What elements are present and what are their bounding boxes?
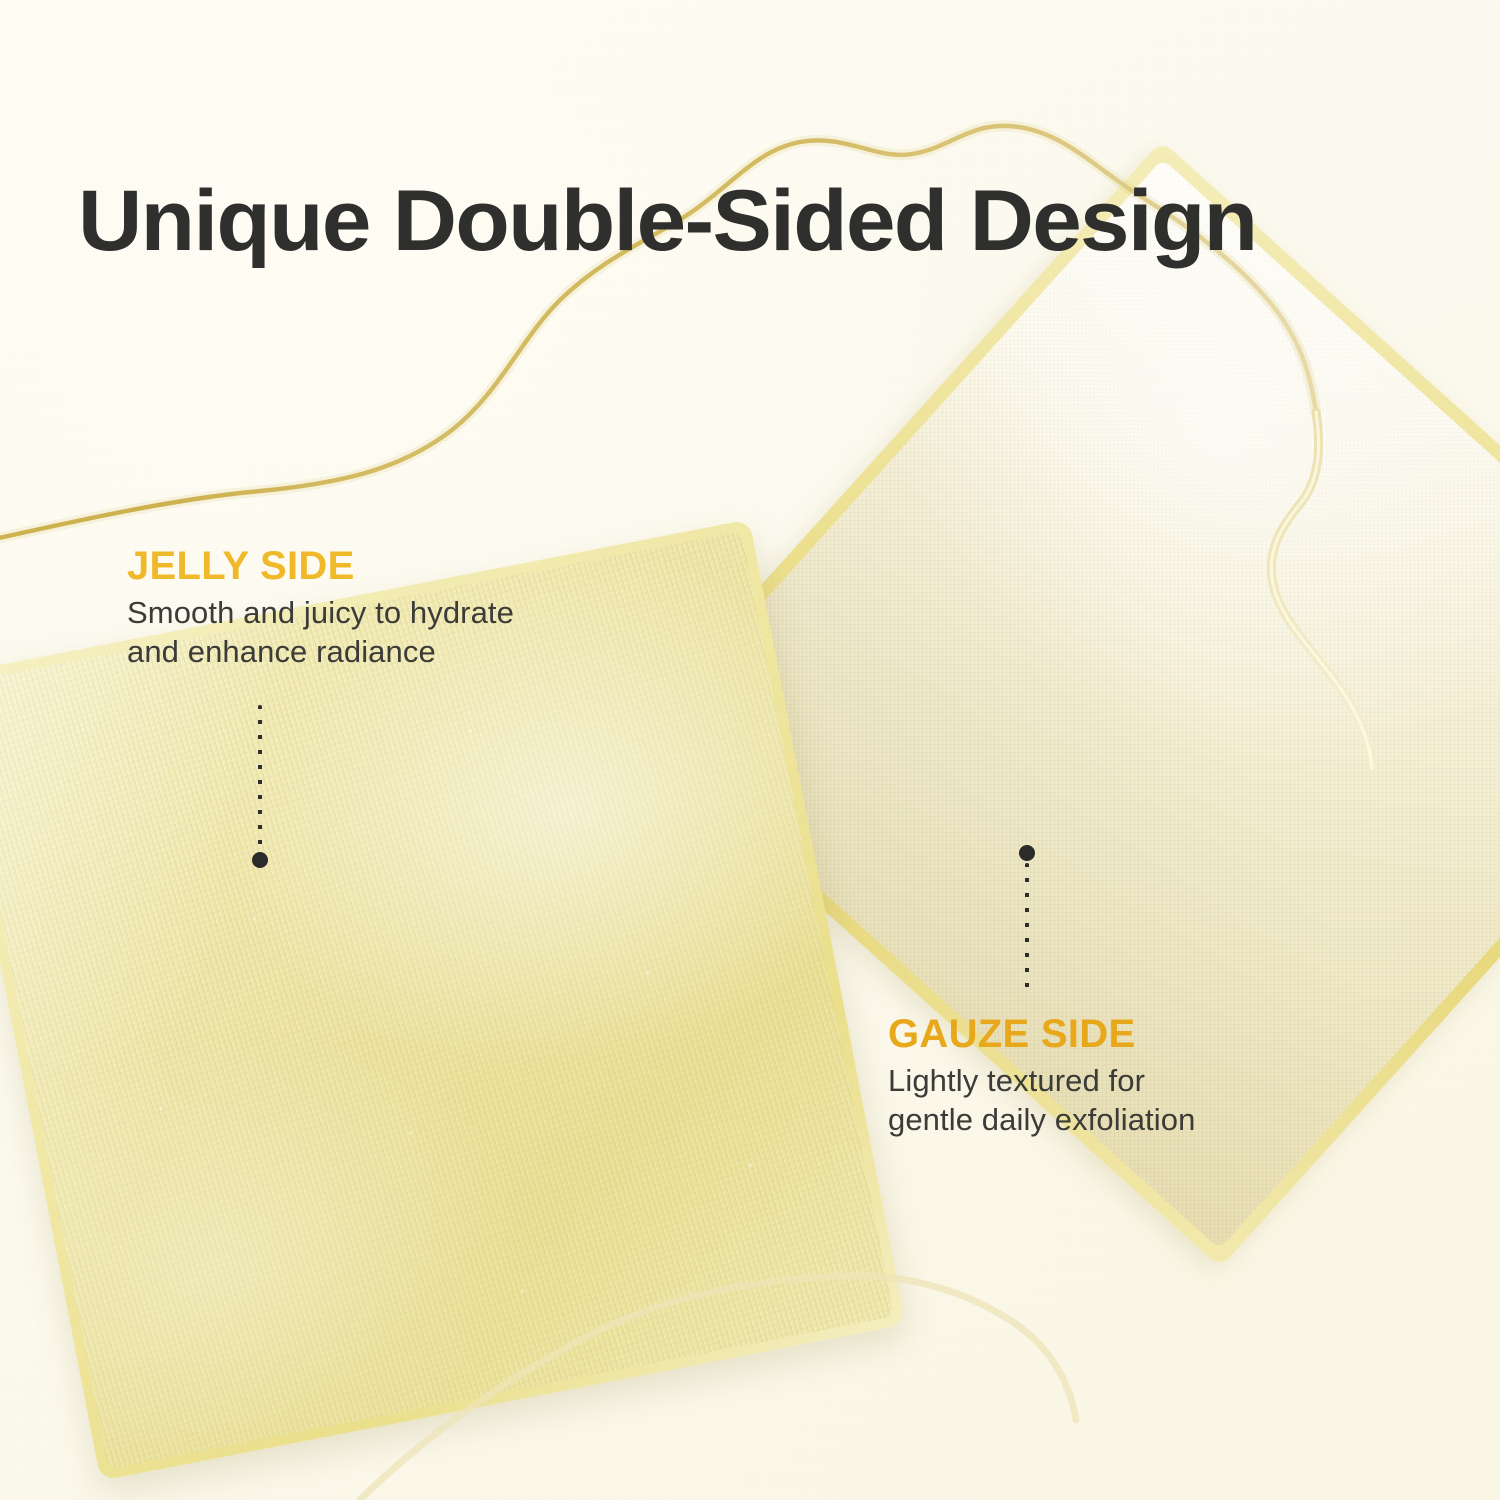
leader-endpoint-gauze <box>1019 845 1035 861</box>
leader-dots-gauze <box>1025 863 1029 995</box>
jelly-pad-face <box>0 531 894 1469</box>
jelly-pad <box>0 531 894 1469</box>
callout-gauze-body: Lightly textured for gentle daily exfoli… <box>888 1061 1348 1139</box>
callout-gauze-body-line-2: gentle daily exfoliation <box>888 1102 1195 1137</box>
callout-jelly-body: Smooth and juicy to hydrate and enhance … <box>127 593 647 671</box>
callout-jelly-title: JELLY SIDE <box>127 545 647 587</box>
leader-line-gauze <box>1019 845 1035 995</box>
callout-jelly-body-line-2: and enhance radiance <box>127 634 436 669</box>
callout-gauze-title: GAUZE SIDE <box>888 1013 1348 1055</box>
callout-gauze-body-line-1: Lightly textured for <box>888 1063 1145 1098</box>
callout-jelly-body-line-1: Smooth and juicy to hydrate <box>127 595 514 630</box>
page-title: Unique Double-Sided Design <box>78 178 1496 264</box>
jelly-sparkle <box>0 531 894 1469</box>
callout-gauze-side: GAUZE SIDE Lightly textured for gentle d… <box>888 1013 1348 1139</box>
product-infographic: Unique Double-Sided Design JELLY SIDE Sm… <box>0 0 1500 1500</box>
leader-endpoint-jelly <box>252 852 268 868</box>
callout-jelly-side: JELLY SIDE Smooth and juicy to hydrate a… <box>127 545 647 671</box>
leader-dots-jelly <box>258 705 262 853</box>
leader-line-jelly <box>252 705 268 875</box>
